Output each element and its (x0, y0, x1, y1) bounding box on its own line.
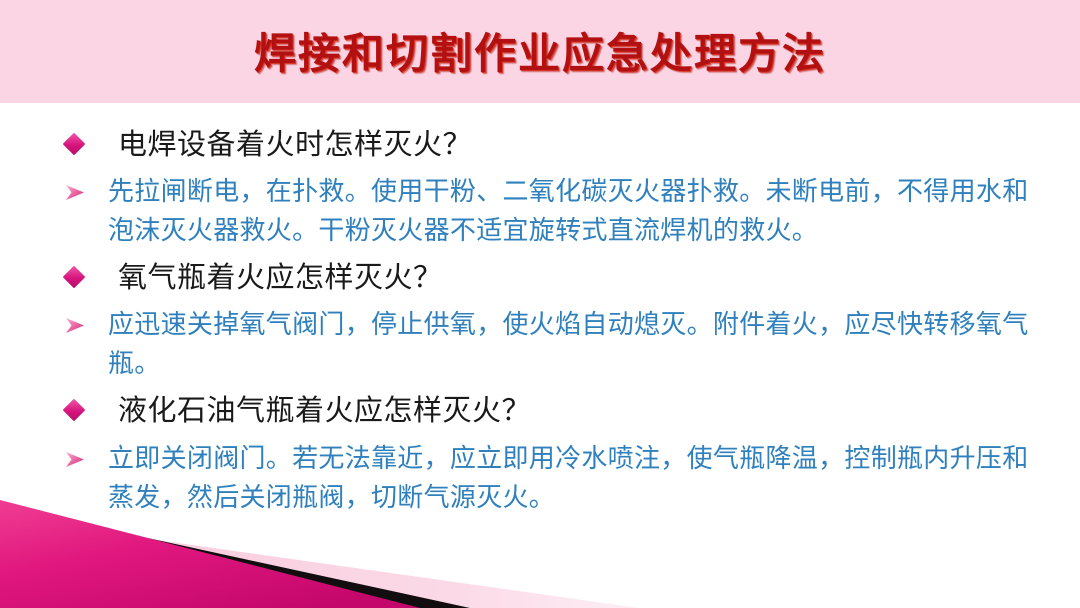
deco-black-stripe (0, 506, 470, 608)
qa-group: 液化石油气瓶着火应怎样灭火？ 立即关 (22, 387, 1058, 516)
answer-row: 应迅速关掉氧气阀门，停止供氧，使火焰自动熄灭。附件着火，应尽快转移氧气瓶。 (22, 305, 1058, 383)
diamond-bullet-icon (63, 133, 86, 156)
content-body: 电焊设备着火时怎样灭火？ 先拉闸断电 (0, 103, 1080, 503)
answer-text: 立即关闭阀门。若无法靠近，应立即用冷水喷注，使气瓶降温，控制瓶内升压和蒸发，然后… (108, 439, 1058, 517)
question-row: 氧气瓶着火应怎样灭火？ (22, 254, 1058, 303)
page-title: 焊接和切割作业应急处理方法 (0, 20, 1080, 81)
question-row: 液化石油气瓶着火应怎样灭火？ (22, 387, 1058, 436)
arrow-bullet-icon (64, 449, 86, 471)
qa-group: 电焊设备着火时怎样灭火？ 先拉闸断电 (22, 121, 1058, 250)
question-row: 电焊设备着火时怎样灭火？ (22, 121, 1058, 170)
diamond-bullet-icon (63, 399, 86, 422)
answer-text: 应迅速关掉氧气阀门，停止供氧，使火焰自动熄灭。附件着火，应尽快转移氧气瓶。 (108, 305, 1058, 383)
diamond-bullet-icon (63, 266, 86, 289)
answer-text: 先拉闸断电，在扑救。使用干粉、二氧化碳灭火器扑救。未断电前，不得用水和泡沫灭火器… (108, 172, 1058, 250)
question-text: 液化石油气瓶着火应怎样灭火？ (118, 391, 1058, 432)
qa-group: 氧气瓶着火应怎样灭火？ 应迅速关掉氧 (22, 254, 1058, 383)
answer-row: 先拉闸断电，在扑救。使用干粉、二氧化碳灭火器扑救。未断电前，不得用水和泡沫灭火器… (22, 172, 1058, 250)
slide-root: 焊接和切割作业应急处理方法 电焊设备着火时怎样灭火？ (0, 0, 1080, 608)
arrow-bullet-icon (64, 315, 86, 337)
question-text: 电焊设备着火时怎样灭火？ (118, 125, 1058, 166)
question-text: 氧气瓶着火应怎样灭火？ (118, 258, 1058, 299)
arrow-bullet-icon (64, 182, 86, 204)
deco-pink-wedge (0, 518, 640, 608)
answer-row: 立即关闭阀门。若无法靠近，应立即用冷水喷注，使气瓶降温，控制瓶内升压和蒸发，然后… (22, 439, 1058, 517)
